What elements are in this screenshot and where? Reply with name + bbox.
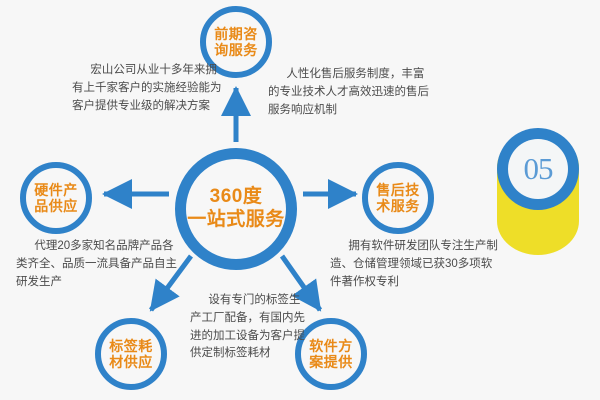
badge-number: 05 <box>524 151 553 187</box>
infographic-canvas: 360度 一站式服务 前期咨 询服务 硬件产 品供应 售后技 术服务 标签耗 材… <box>0 0 600 400</box>
node-label-left: 硬件产 品供应 <box>34 182 78 214</box>
node-hardware-supply[interactable]: 硬件产 品供应 <box>20 162 92 234</box>
description-top-right: 人性化售后服务制度，丰富的专业技术人才高效迅速的售后服务响应机制 <box>268 66 430 119</box>
node-label-right: 售后技 术服务 <box>376 182 420 214</box>
description-bottom: 设有专门的标签生产工厂配备，有国内先进的加工设备为客户提供定制标签耗材 <box>190 292 308 363</box>
node-after-sales-tech[interactable]: 售后技 术服务 <box>362 162 434 234</box>
node-label-top: 前期咨 询服务 <box>214 26 258 58</box>
node-label-bottom-left: 标签耗 材供应 <box>109 338 153 370</box>
description-right: 拥有软件研发团队专注生产制造、仓储管理领域已获30多项软件著作权专利 <box>330 238 500 291</box>
badge-ring: 05 <box>497 128 579 210</box>
node-label-bottom-right: 软件方 案提供 <box>309 338 353 370</box>
description-left: 代理20多家知名品牌产品各类齐全、品质一流具备产品自主研发生产 <box>16 238 182 291</box>
center-hub-label: 360度 一站式服务 <box>187 186 285 232</box>
center-hub[interactable]: 360度 一站式服务 <box>175 148 297 270</box>
node-label-consumables-supply[interactable]: 标签耗 材供应 <box>95 318 167 390</box>
badge-inner-circle: 05 <box>508 139 568 199</box>
description-top-left: 宏山公司从业十多年来拥有上千家客户的实施经验能为客户提供专业级的解决方案 <box>72 62 222 115</box>
